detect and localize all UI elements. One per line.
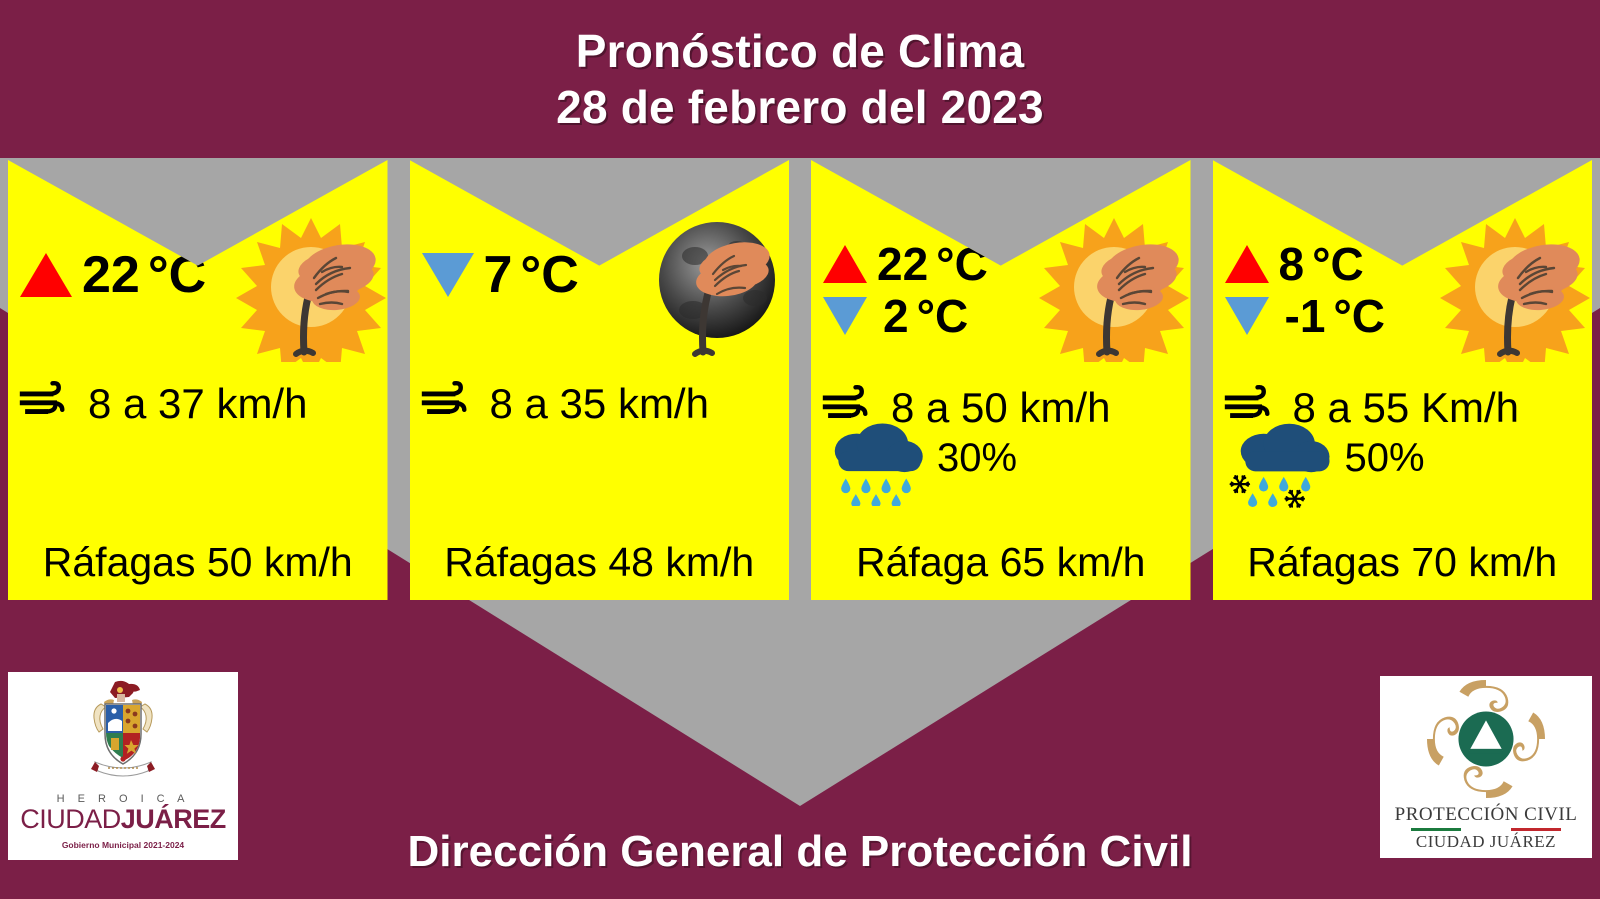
high-temperature-row: 22°C <box>823 238 988 290</box>
temperature-value: 22°C <box>82 249 206 301</box>
precipitation-chance-text: 50% <box>1345 436 1425 481</box>
precipitation-row: 50% <box>1227 418 1425 515</box>
down-triangle-blue-icon <box>1225 297 1269 335</box>
logo-ciudad-juarez-label: CIUDADJUÁREZ <box>20 806 226 833</box>
temperature-value: 2°C <box>883 293 968 339</box>
low-temperature-row: 7°C <box>422 245 579 305</box>
temperature-number: 22 <box>82 246 140 304</box>
wind-icon <box>420 378 482 429</box>
temperature-unit: °C <box>1333 290 1385 342</box>
high-temperature-row: 8°C <box>1225 238 1386 290</box>
temperature-value: 7°C <box>484 249 579 301</box>
sun-tree-icon <box>1440 212 1590 362</box>
temperature-value: 8°C <box>1279 241 1364 287</box>
up-triangle-red-icon <box>20 253 72 297</box>
low-temperature-row: 2°C <box>823 290 988 342</box>
wind-gust-text: Ráfagas 48 km/h <box>410 539 790 586</box>
mexican-flag-divider-icon <box>1411 828 1561 831</box>
wind-speed-text: 8 a 37 km/h <box>88 380 307 428</box>
header: Pronóstico de Clima 28 de febrero del 20… <box>0 0 1600 158</box>
moon-tree-icon <box>637 212 787 362</box>
temperature-number: 22 <box>877 238 928 290</box>
wind-gust-text: Ráfaga 65 km/h <box>811 539 1191 586</box>
wind-row: 8 a 37 km/h <box>18 378 307 429</box>
logo-juarez-word: JUÁREZ <box>121 804 226 834</box>
logo-proteccion-civil: PROTECCIÓN CIVIL CIUDAD JUÁREZ <box>1380 676 1592 858</box>
forecast-card[interactable]: Jueves 8°C-1°C <box>1213 160 1593 600</box>
down-triangle-blue-icon <box>422 253 474 297</box>
temperature-number: 2 <box>883 290 909 342</box>
low-temperature-row: -1°C <box>1225 290 1386 342</box>
card-day-title: Hoy <box>8 168 388 197</box>
forecast-card[interactable]: Miércoles 22°C <box>811 160 1191 600</box>
temperature-unit: °C <box>520 246 578 304</box>
temperature-unit: °C <box>148 246 206 304</box>
forecast-card[interactable]: Esta Noche <box>410 160 790 600</box>
sun-tree-icon <box>1039 212 1189 362</box>
temperature-value: -1°C <box>1285 293 1386 339</box>
precipitation-row: 30% <box>825 418 1017 511</box>
temperature-number: -1 <box>1285 290 1326 342</box>
wind-row: 8 a 35 km/h <box>420 378 709 429</box>
card-day-title: Esta Noche <box>410 168 790 197</box>
sun-tree-icon <box>236 212 386 362</box>
high-temperature-row: 22°C <box>20 245 206 305</box>
proteccion-civil-emblem-icon <box>1427 680 1545 803</box>
footer-banner: Dirección General de Protección Civil <box>0 827 1600 877</box>
temperature-number: 8 <box>1279 238 1305 290</box>
logo-ciudad-word: CIUDAD <box>20 804 121 834</box>
pc-title-label: PROTECCIÓN CIVIL <box>1395 804 1578 826</box>
forecast-cards: Hoy 22°C <box>8 160 1592 600</box>
temperature-block: 22°C <box>20 245 206 305</box>
card-day-title: Miércoles <box>811 168 1191 197</box>
temperature-number: 7 <box>484 246 513 304</box>
page-title-line2: 28 de febrero del 2023 <box>556 79 1044 135</box>
wind-gust-text: Ráfagas 70 km/h <box>1213 539 1593 586</box>
temperature-unit: °C <box>936 238 988 290</box>
forecast-card[interactable]: Hoy 22°C <box>8 160 388 600</box>
logo-gobierno-label: Gobierno Municipal 2021-2024 <box>62 840 184 850</box>
up-triangle-red-icon <box>823 245 867 283</box>
wind-icon <box>18 378 80 429</box>
temperature-block: 22°C2°C <box>823 238 988 342</box>
logo-ciudad-juarez: H E R O I C A CIUDADJUÁREZ Gobierno Muni… <box>8 672 238 860</box>
page-title-line1: Pronóstico de Clima <box>576 23 1025 79</box>
rain-cloud-icon <box>825 418 927 511</box>
temperature-value: 22°C <box>877 241 988 287</box>
pc-subtitle-label: CIUDAD JUÁREZ <box>1416 832 1556 852</box>
temperature-block: 8°C-1°C <box>1225 238 1386 342</box>
wind-gust-text: Ráfagas 50 km/h <box>8 539 388 586</box>
juarez-coat-of-arms-icon <box>77 678 169 791</box>
wind-speed-text: 8 a 35 km/h <box>490 380 709 428</box>
precipitation-chance-text: 30% <box>937 436 1017 481</box>
temperature-block: 7°C <box>422 245 579 305</box>
temperature-unit: °C <box>1312 238 1364 290</box>
down-triangle-blue-icon <box>823 297 867 335</box>
card-day-title: Jueves <box>1213 168 1593 197</box>
up-triangle-red-icon <box>1225 245 1269 283</box>
temperature-unit: °C <box>917 290 969 342</box>
snow-rain-cloud-icon <box>1227 418 1335 515</box>
